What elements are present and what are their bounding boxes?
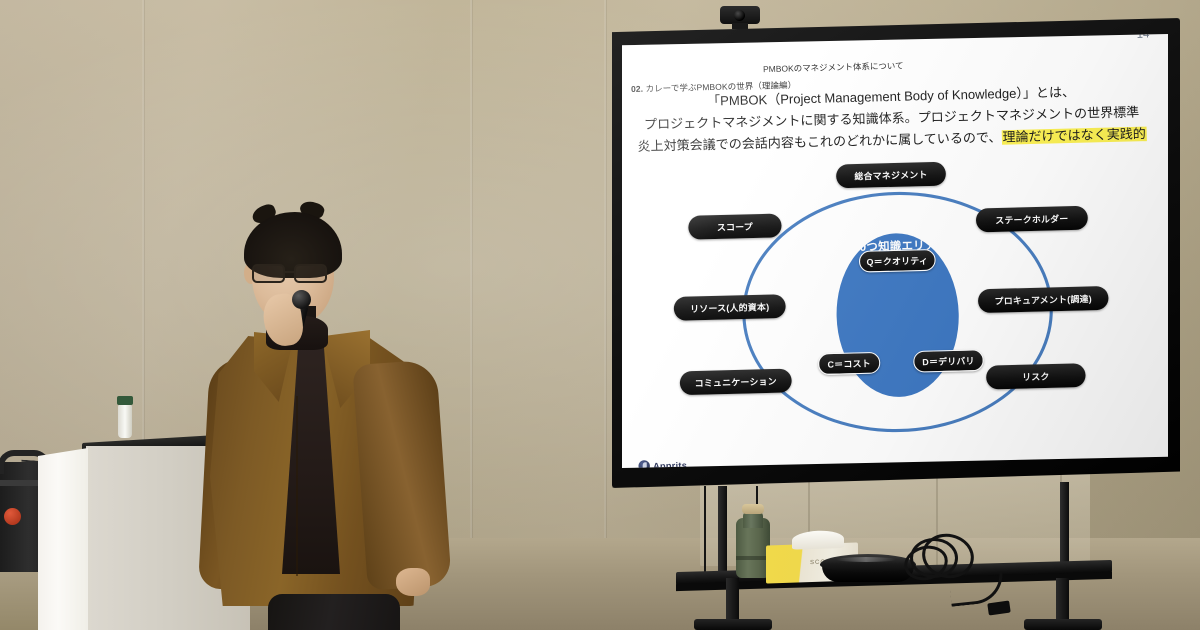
bottle-lid — [742, 504, 764, 514]
diagram-core-item-delivery: D＝デリバリ — [913, 349, 984, 373]
diagram-ring-item-scope: スコープ — [688, 214, 782, 240]
logo-text: Apprits — [653, 460, 687, 468]
room-scene: SCOTTIE 14 PMBOKのマネジメント体系について 02. カレーで学ぶ… — [0, 0, 1200, 630]
slide-page-number: 14 — [1137, 34, 1150, 41]
diagram-ring-item-risk: リスク — [986, 363, 1086, 389]
webcam-lens — [734, 10, 745, 21]
logo-mark-icon — [638, 460, 650, 468]
stand-foot-left — [694, 619, 772, 630]
wall-mounted-display[interactable]: 14 PMBOKのマネジメント体系について 02. カレーで学ぶPMBOKの世界… — [612, 18, 1180, 488]
hanging-cable — [704, 486, 706, 572]
glasses-bridge — [285, 271, 294, 273]
lens-right — [294, 264, 327, 283]
lectern-side-panel — [38, 448, 88, 630]
case-knob — [4, 508, 21, 525]
diagram-ring-item-stakeholder: ステークホルダー — [976, 206, 1088, 233]
bottle-cap-icon — [117, 396, 133, 405]
lens-left — [252, 264, 285, 283]
diagram-ring-item-procurement: プロキュアメント(調達) — [978, 286, 1109, 313]
company-logo: Apprits — [638, 459, 687, 468]
diagram-core-item-quality: Q＝クオリティ — [859, 249, 936, 273]
speakerphone-highlight — [836, 557, 896, 562]
stand-foot-right — [1024, 619, 1102, 630]
coiled-cables — [904, 534, 1006, 590]
conference-speakerphone[interactable] — [820, 554, 916, 582]
presenter — [192, 190, 472, 630]
diagram-ring-item-resource: リソース(人的資本) — [674, 294, 786, 321]
slide-body: 「PMBOK（Project Management Body of Knowle… — [622, 79, 1168, 158]
webcam-mount — [732, 23, 748, 29]
presenter-right-arm — [352, 359, 452, 590]
display-screen[interactable]: 14 PMBOKのマネジメント体系について 02. カレーで学ぶPMBOKの世界… — [622, 34, 1168, 468]
diagram-core-item-cost: C＝コスト — [818, 352, 881, 375]
green-water-bottle — [736, 504, 770, 578]
presenter-torso — [210, 336, 438, 630]
bottle-neck — [743, 512, 763, 528]
presenter-right-hand — [396, 568, 430, 596]
bottle-ring — [736, 556, 770, 560]
microphone-icon — [292, 290, 311, 309]
body-line-3-highlight: 理論だけではなく実践的 — [1001, 127, 1147, 145]
eyeglasses — [250, 264, 334, 283]
stand-pole-right — [1060, 482, 1069, 572]
diagram-ring-item-communication: コミュニケーション — [680, 369, 792, 396]
presentation-slide: 14 PMBOKのマネジメント体系について 02. カレーで学ぶPMBOKの世界… — [622, 34, 1168, 468]
stand-pole-left — [718, 486, 727, 572]
webcam-icon — [720, 6, 760, 24]
presenter-pants — [268, 594, 400, 630]
pmbok-knowledge-area-diagram: 10つ知識エリア Q＝クオリティ C＝コスト D＝デリバリ 総合マネジメント ス… — [622, 162, 1168, 468]
diagram-ring-item-integration: 総合マネジメント — [836, 162, 946, 189]
tissue-sheet — [792, 530, 844, 550]
small-water-bottle — [118, 404, 132, 438]
slide-subtitle: PMBOKのマネジメント体系について — [763, 59, 904, 75]
jacket-seam — [296, 396, 298, 576]
